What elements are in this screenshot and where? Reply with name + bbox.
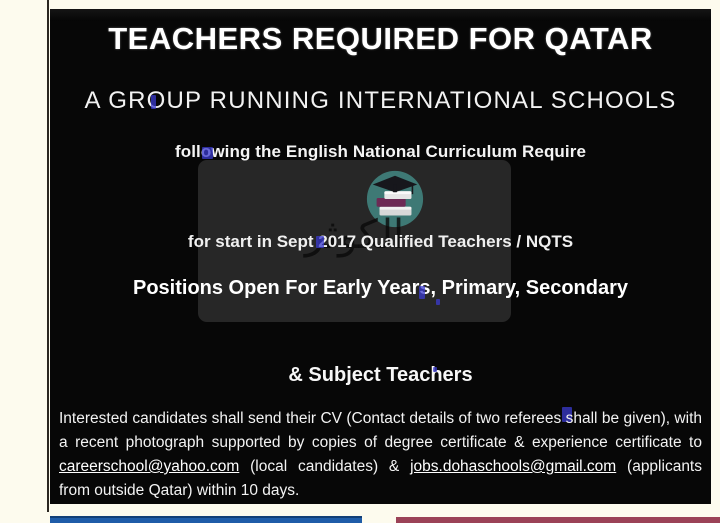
body-text-part-1: Interested candidates shall send their C…	[59, 410, 702, 451]
graduation-cap-books-icon	[364, 168, 426, 230]
page-title: TEACHERS REQUIRED FOR QATAR	[50, 21, 711, 57]
body-paragraph: Interested candidates shall send their C…	[59, 407, 702, 503]
curriculum-line: following the English National Curriculu…	[50, 142, 711, 162]
footer-bar-maroon	[396, 517, 720, 523]
left-margin-rule	[47, 0, 49, 512]
email-local-candidates[interactable]: careerschool@yahoo.com	[59, 458, 239, 475]
body-text-part-2: (local candidates) &	[239, 458, 410, 475]
advertisement-poster: TEACHERS REQUIRED FOR QATAR A GROUP RUNN…	[50, 9, 711, 504]
start-date-line: for start in Sept 2017 Qualified Teacher…	[50, 232, 711, 252]
poster-canvas: TEACHERS REQUIRED FOR QATAR A GROUP RUNN…	[0, 0, 720, 523]
email-overseas-candidates[interactable]: jobs.dohaschools@gmail.com	[410, 458, 616, 475]
footer-bar-blue-highlight	[50, 516, 362, 518]
subtitle: A GROUP RUNNING INTERNATIONAL SCHOOLS	[50, 87, 711, 115]
positions-line: Positions Open For Early Years, Primary,…	[50, 277, 711, 300]
subject-teachers-line: & Subject Teachers	[50, 364, 711, 387]
